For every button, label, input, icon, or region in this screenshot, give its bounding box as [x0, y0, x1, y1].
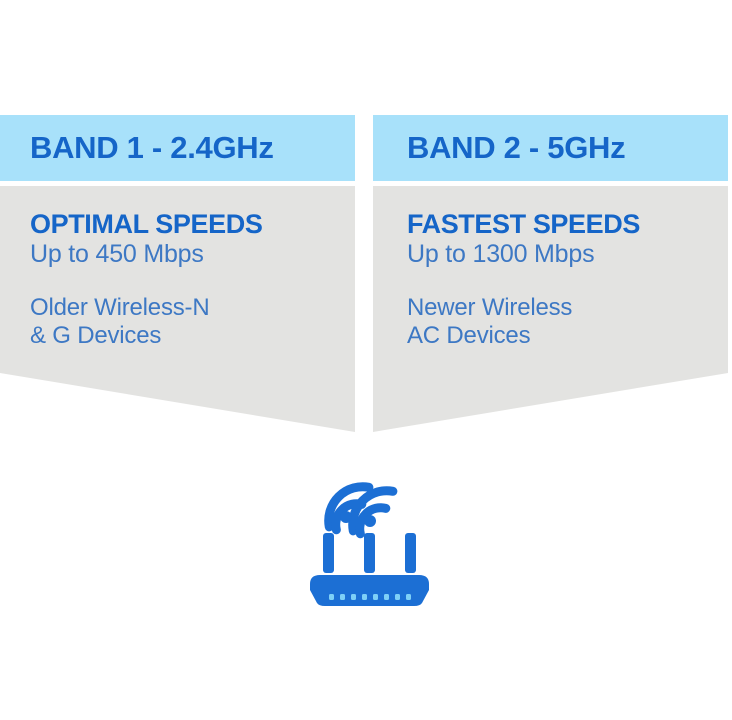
band-1-header: BAND 1 - 2.4GHz — [0, 115, 355, 181]
dual-band-infographic: BAND 1 - 2.4GHz OPTIMAL SPEEDS Up to 450… — [0, 0, 732, 720]
band-1-header-title: BAND 1 - 2.4GHz — [30, 130, 274, 166]
band-2-speed-value: Up to 1300 Mbps — [407, 240, 728, 268]
band-1-speed-value: Up to 450 Mbps — [30, 240, 355, 268]
band-columns: BAND 1 - 2.4GHz OPTIMAL SPEEDS Up to 450… — [0, 115, 732, 445]
band-2-header-title: BAND 2 - 5GHz — [407, 130, 625, 166]
band-2-header: BAND 2 - 5GHz — [373, 115, 728, 181]
antenna-1 — [323, 533, 334, 573]
wifi-dot-primary — [364, 515, 376, 527]
router-body-base — [310, 590, 429, 606]
band-2-body: FASTEST SPEEDS Up to 1300 Mbps Newer Wir… — [373, 186, 728, 432]
antenna-2 — [364, 533, 375, 573]
router-body-top — [310, 575, 429, 590]
band-2-speed-title: FASTEST SPEEDS — [407, 210, 728, 239]
band-1-device-note: Older Wireless-N & G Devices — [30, 294, 355, 350]
wifi-router-icon — [298, 458, 443, 613]
band-column-1: BAND 1 - 2.4GHz OPTIMAL SPEEDS Up to 450… — [0, 115, 355, 445]
antenna-3 — [405, 533, 416, 573]
router-antennas — [323, 533, 416, 573]
wifi-dot-secondary — [340, 511, 352, 523]
band-2-device-note: Newer Wireless AC Devices — [407, 294, 728, 350]
band-column-2: BAND 2 - 5GHz FASTEST SPEEDS Up to 1300 … — [373, 115, 728, 445]
wifi-router-graphic — [298, 458, 443, 613]
band-1-speed-title: OPTIMAL SPEEDS — [30, 210, 355, 239]
band-1-body: OPTIMAL SPEEDS Up to 450 Mbps Older Wire… — [0, 186, 355, 432]
